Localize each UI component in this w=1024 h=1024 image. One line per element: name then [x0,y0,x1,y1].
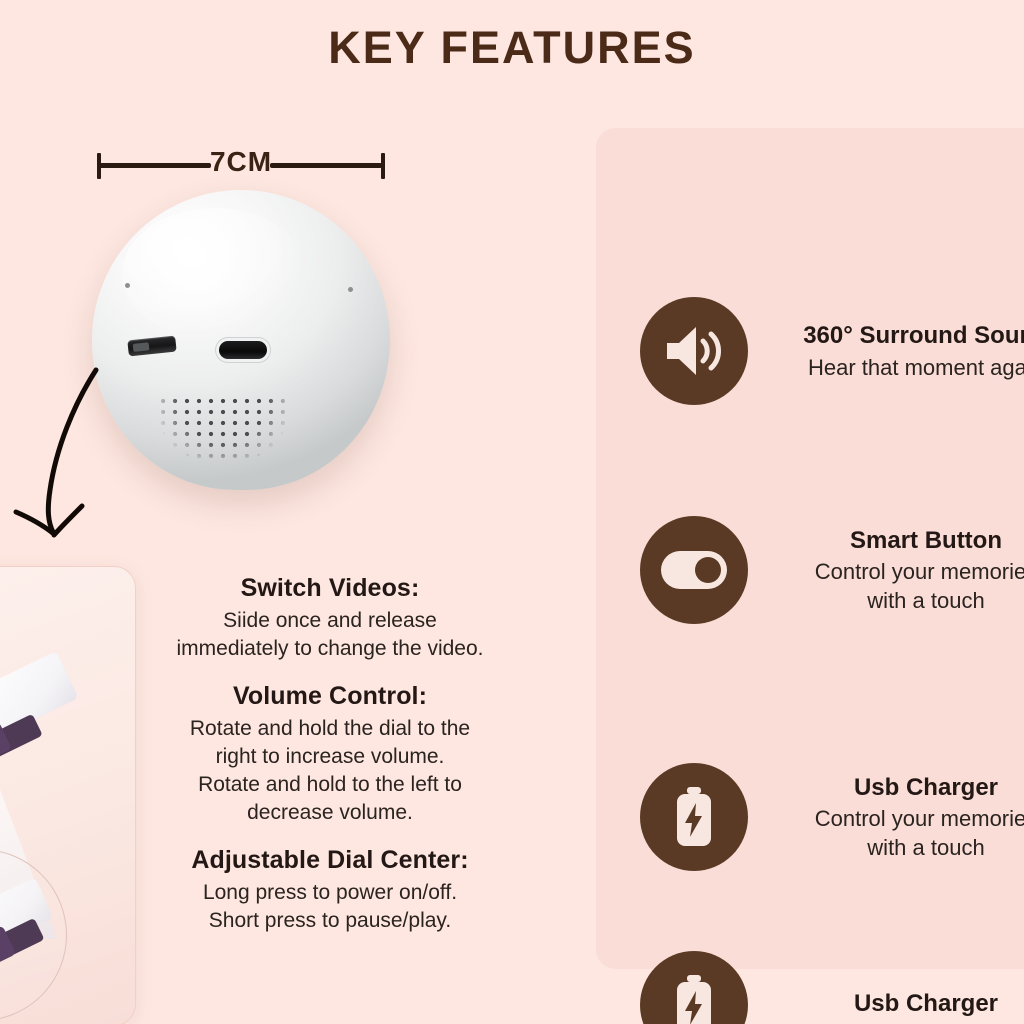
instruction-heading: Adjustable Dial Center: [148,844,512,876]
instruction-heading: Switch Videos: [148,572,512,604]
key-features-infographic: KEY FEATURES 7CM Switch Vide [0,0,1024,1024]
dimension-cap-right [381,153,385,179]
feature-subtitle: Control your memories with a touch [776,558,1024,614]
product-detail-photo-card [0,566,136,1024]
page-title: KEY FEATURES [0,22,1024,74]
feature-text: Usb Charger [776,988,1024,1021]
instruction-switch-videos: Switch Videos: Siide once and release im… [148,572,512,662]
toggle-switch-icon [640,516,748,624]
instruction-volume-control: Volume Control: Rotate and hold the dial… [148,680,512,826]
toggle-switch-glyph [659,549,729,591]
instruction-body: Rotate and hold the dial to the right to… [148,715,512,826]
instruction-adjustable-dial-center: Adjustable Dial Center: Long press to po… [148,844,512,934]
battery-charging-icon [640,763,748,871]
feature-text: Usb Charger Control your memories with a… [776,772,1024,862]
speaker-volume-icon [640,297,748,405]
instructions-column: Switch Videos: Siide once and release im… [148,572,512,935]
feature-title: Usb Charger [776,988,1024,1019]
instruction-body: Long press to power on/off. Short press … [148,879,512,934]
feature-title: Usb Charger [776,772,1024,803]
usb-c-port [215,337,271,363]
dimension-label: 7CM [201,146,281,178]
feature-subtitle: Hear that moment again [776,354,1024,382]
feature-text: 360° Surround Sound Hear that moment aga… [776,320,1024,381]
feature-item-usb-charger: Usb Charger Control your memories with a… [640,763,1024,871]
speaker-volume-glyph [663,323,725,379]
curved-arrow-icon [0,362,130,557]
product-device-image [92,190,390,490]
feature-subtitle: Control your memories with a touch [776,805,1024,861]
dimension-bar-right [270,163,382,168]
features-panel: 360° Surround Sound Hear that moment aga… [596,128,1024,969]
feature-text: Smart Button Control your memories with … [776,525,1024,615]
instruction-body: Siide once and release immediately to ch… [148,607,512,662]
microphone-hole-icon [125,283,130,288]
feature-item-smart-button: Smart Button Control your memories with … [640,516,1024,624]
feature-item-usb-charger-2: Usb Charger [640,951,1024,1024]
battery-charging-icon [640,951,748,1024]
feature-title: 360° Surround Sound [776,320,1024,351]
microphone-hole-icon [348,287,353,292]
battery-charging-glyph [672,974,716,1024]
dimension-bar-left [99,163,211,168]
instruction-heading: Volume Control: [148,680,512,712]
battery-charging-glyph [672,786,716,848]
dimension-indicator: 7CM [97,146,385,186]
feature-title: Smart Button [776,525,1024,556]
feature-item-surround-sound: 360° Surround Sound Hear that moment aga… [640,297,1024,405]
photo-strap [0,714,43,800]
